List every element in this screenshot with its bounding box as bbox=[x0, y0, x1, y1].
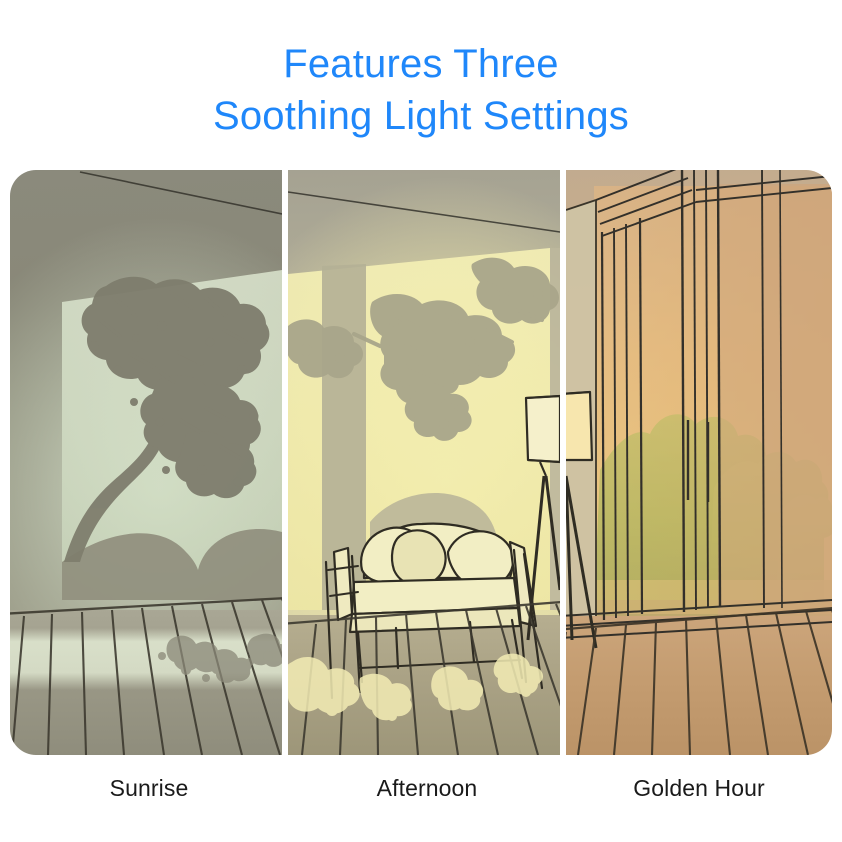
panel-golden-hour[interactable] bbox=[566, 170, 832, 755]
light-settings-comparison-strip bbox=[10, 170, 832, 755]
panel-afternoon[interactable] bbox=[288, 170, 560, 755]
afternoon-room-scene bbox=[288, 170, 560, 755]
sunrise-floor-dapple bbox=[158, 634, 282, 683]
golden-hour-detail-layer bbox=[566, 170, 832, 755]
afternoon-floor-dapple bbox=[288, 654, 543, 721]
caption-golden-hour: Golden Hour bbox=[566, 775, 832, 802]
sunrise-room-scene bbox=[10, 170, 282, 755]
sunrise-detail-layer bbox=[10, 170, 282, 755]
caption-sunrise: Sunrise bbox=[10, 775, 288, 802]
panel-captions: Sunrise Afternoon Golden Hour bbox=[10, 775, 832, 802]
headline-line-1: Features Three bbox=[0, 38, 842, 90]
afternoon-detail-layer bbox=[288, 170, 560, 755]
golden-hour-room-scene bbox=[566, 170, 832, 755]
page-title: Features Three Soothing Light Settings bbox=[0, 38, 842, 142]
headline-line-2: Soothing Light Settings bbox=[0, 90, 842, 142]
panel-sunrise[interactable] bbox=[10, 170, 282, 755]
caption-afternoon: Afternoon bbox=[288, 775, 566, 802]
